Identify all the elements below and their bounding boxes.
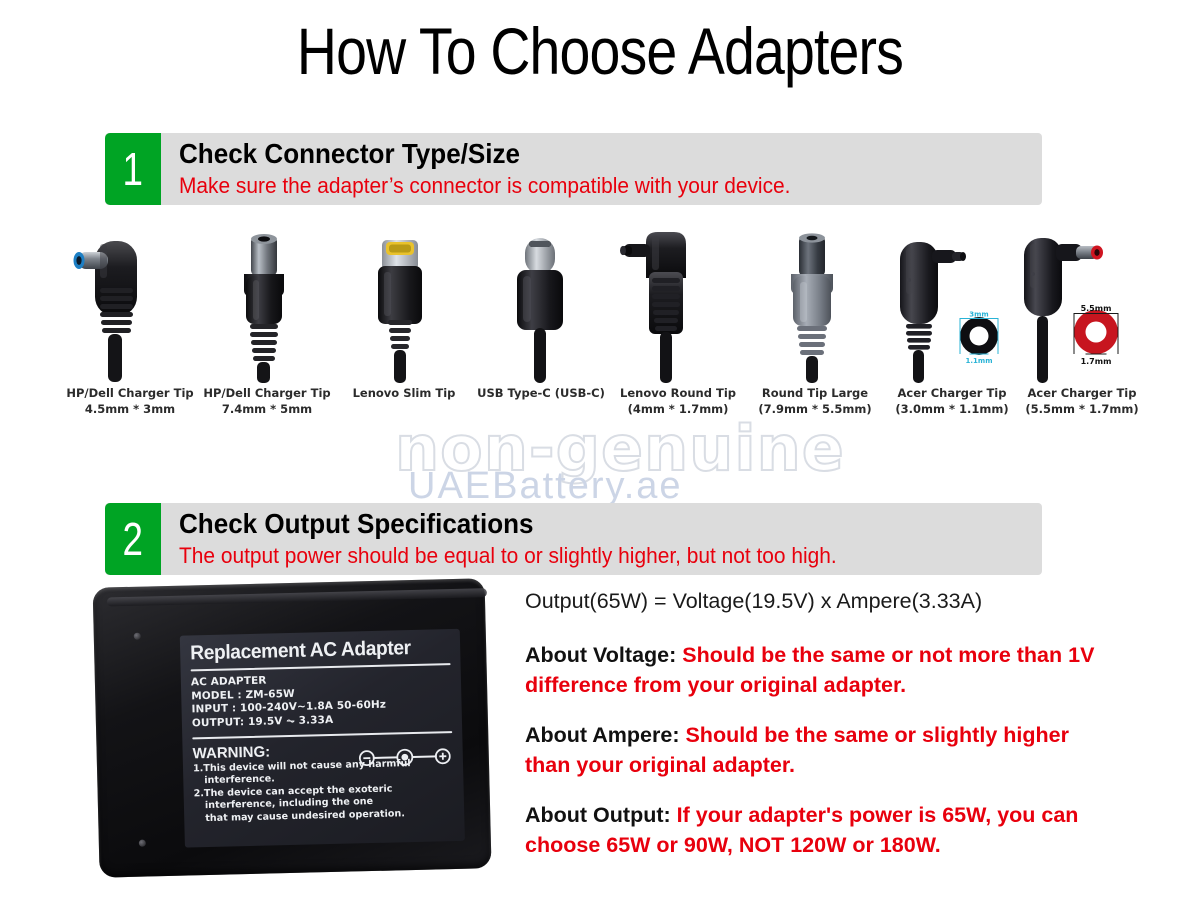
about-output-label: About Output: bbox=[525, 803, 671, 827]
step-1-subtitle: Make sure the adapter’s connector is com… bbox=[179, 171, 991, 201]
acer-large-outer-measure: 5.5mm bbox=[1081, 304, 1112, 313]
step-1-header-bar: 1 Check Connector Type/Size Make sure th… bbox=[105, 133, 1042, 205]
connector-name-6: Round Tip Large bbox=[762, 386, 868, 400]
connector-item-5: Lenovo Round Tip (4mm * 1.7mm) bbox=[608, 228, 748, 428]
about-voltage-paragraph: About Voltage: Should be the same or not… bbox=[525, 640, 1105, 700]
connector-name-8: Acer Charger Tip bbox=[1028, 386, 1137, 400]
step-2-header-bar: 2 Check Output Specifications The output… bbox=[105, 503, 1042, 575]
round-tip-large-connector-icon bbox=[745, 228, 885, 383]
about-ampere-paragraph: About Ampere: Should be the same or slig… bbox=[525, 720, 1105, 780]
acer-55-connector-icon: 5.5mm 1.7mm bbox=[1012, 228, 1152, 383]
connector-size-8: (5.5mm * 1.7mm) bbox=[1000, 402, 1164, 418]
hp-dell-45-barrel-connector-icon bbox=[60, 228, 200, 383]
step-2-text-group: Check Output Specifications The output p… bbox=[179, 507, 1034, 571]
lenovo-slim-tip-connector-icon bbox=[334, 228, 474, 383]
step-2-subtitle: The output power should be equal to or s… bbox=[179, 541, 991, 571]
connector-item-8: 5.5mm 1.7mm Acer Charger Tip (5.5mm * 1.… bbox=[1012, 228, 1152, 428]
ac-adapter-photo: Replacement AC Adapter AC ADAPTER MODEL … bbox=[84, 570, 496, 880]
connector-item-3: Lenovo Slim Tip bbox=[334, 228, 474, 428]
connector-item-6: Round Tip Large (7.9mm * 5.5mm) bbox=[745, 228, 885, 428]
about-ampere-label: About Ampere: bbox=[525, 723, 679, 747]
about-voltage-label: About Voltage: bbox=[525, 643, 676, 667]
adapter-top-edge bbox=[107, 588, 487, 606]
step-1-number-badge: 1 bbox=[105, 133, 161, 205]
page-title: How To Choose Adapters bbox=[96, 14, 1104, 88]
adapter-screw-bottom-left bbox=[139, 840, 146, 847]
adapter-label-title: Replacement AC Adapter bbox=[190, 635, 440, 665]
connector-item-4: USB Type-C (USB-C) bbox=[471, 228, 611, 428]
acer-small-inner-measure: 1.1mm bbox=[966, 357, 993, 365]
connector-name-5: Lenovo Round Tip bbox=[620, 386, 736, 400]
step-1-number: 1 bbox=[123, 133, 143, 205]
step-2-number-badge: 2 bbox=[105, 503, 161, 575]
connector-name-2: HP/Dell Charger Tip bbox=[203, 386, 330, 400]
connector-name-4: USB Type-C (USB-C) bbox=[477, 386, 605, 400]
polarity-symbol-icon bbox=[359, 747, 451, 767]
connector-name-1: HP/Dell Charger Tip bbox=[66, 386, 193, 400]
connector-item-1: HP/Dell Charger Tip 4.5mm * 3mm bbox=[60, 228, 200, 428]
about-output-paragraph: About Output: If your adapter's power is… bbox=[525, 800, 1105, 860]
step-2-number: 2 bbox=[123, 503, 143, 575]
acer-30-connector-icon: 3mm 1.1mm bbox=[882, 228, 1022, 383]
step-2-heading: Check Output Specifications bbox=[179, 507, 974, 541]
output-formula: Output(65W) = Voltage(19.5V) x Ampere(3.… bbox=[525, 586, 1105, 616]
connector-name-7: Acer Charger Tip bbox=[898, 386, 1007, 400]
connector-name-3: Lenovo Slim Tip bbox=[353, 386, 456, 400]
connector-item-2: HP/Dell Charger Tip 7.4mm * 5mm bbox=[197, 228, 337, 428]
step-1-text-group: Check Connector Type/Size Make sure the … bbox=[179, 137, 1034, 201]
usb-type-c-connector-icon bbox=[471, 228, 611, 383]
connector-gallery: HP/Dell Charger Tip 4.5mm * 3mm bbox=[60, 228, 1150, 428]
connector-label-8: Acer Charger Tip (5.5mm * 1.7mm) bbox=[1000, 386, 1164, 417]
acer-large-inner-measure: 1.7mm bbox=[1081, 357, 1112, 366]
adapter-label-panel: Replacement AC Adapter AC ADAPTER MODEL … bbox=[180, 629, 465, 848]
hp-dell-74-barrel-connector-icon bbox=[197, 228, 337, 383]
step-1-heading: Check Connector Type/Size bbox=[179, 137, 974, 171]
acer-small-outer-measure: 3mm bbox=[969, 311, 988, 319]
adapter-screw-top-left bbox=[134, 633, 141, 640]
adapter-body: Replacement AC Adapter AC ADAPTER MODEL … bbox=[93, 578, 492, 877]
output-spec-text-group: Output(65W) = Voltage(19.5V) x Ampere(3.… bbox=[525, 586, 1105, 880]
connector-size-2: 7.4mm * 5mm bbox=[185, 402, 349, 418]
lenovo-round-tip-connector-icon bbox=[608, 228, 748, 383]
watermark-site: UAEBattery.ae bbox=[408, 465, 683, 508]
